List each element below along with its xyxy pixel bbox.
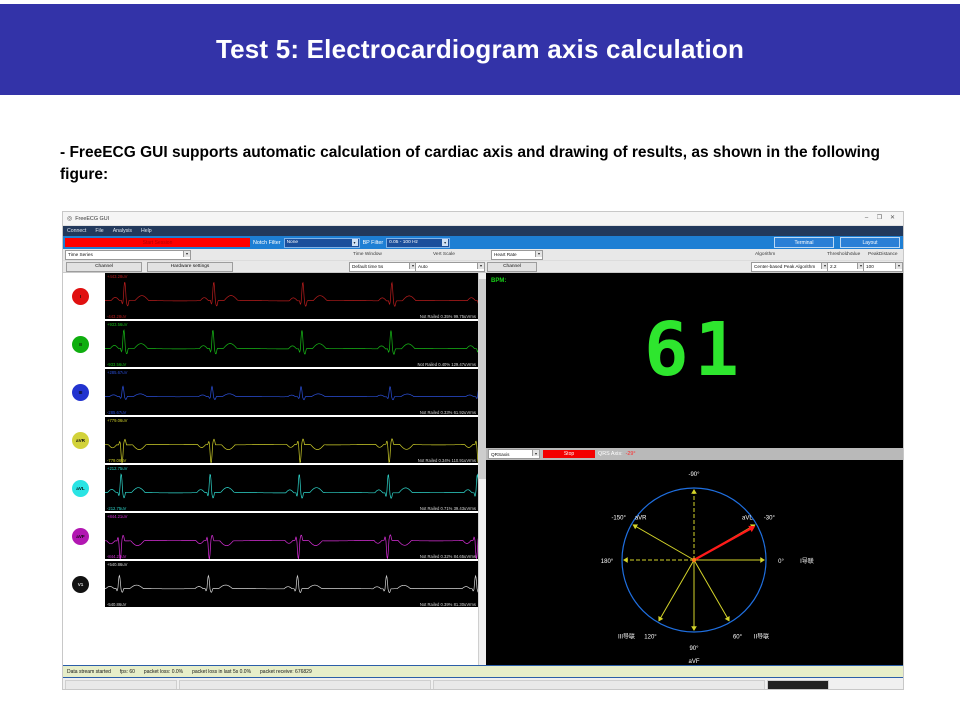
trace-amplitude-bottom: -212.75uV xyxy=(107,506,126,511)
lead-indicator-rail: IIIIIIaVRaVLaVFV1 xyxy=(63,273,105,665)
freeecg-app-window: ◎ FreeECG GUI – ❐ ✕ Connect File Analysi… xyxy=(62,211,904,690)
bottom-section-1 xyxy=(65,680,177,691)
vert-scale-label: Vert Scale xyxy=(433,252,455,257)
bottom-section-2 xyxy=(179,680,431,691)
chevron-down-icon[interactable]: ▾ xyxy=(352,239,358,246)
lead-indicator-i[interactable]: I xyxy=(72,288,89,305)
window-titlebar: ◎ FreeECG GUI – ❐ ✕ xyxy=(63,212,903,226)
status-bar: Data stream started fps: 60 packet loss:… xyxy=(63,665,903,678)
peak-distance-value: 100 xyxy=(866,264,874,269)
chevron-down-icon[interactable]: ▾ xyxy=(895,263,902,269)
ecg-trace-avr[interactable]: +779.06uV-779.06uVNot Railed 0.34% 110.9… xyxy=(105,417,479,463)
traces-scrollbar[interactable] xyxy=(478,273,486,665)
ecg-trace-i[interactable]: +443.28uV-443.28uVNot Railed 0.35% 99.75… xyxy=(105,273,479,319)
slide-header: Test 5: Electrocardiogram axis calculati… xyxy=(0,4,960,95)
ecg-trace-avf[interactable]: +844.21uV-844.21uVNot Railed 0.32% 84.65… xyxy=(105,513,479,559)
hexaxial-svg: -150°aVR-90°-30°aVL0°I导联60°II导联90°aVF120… xyxy=(486,460,903,665)
trace-amplitude-top: +540.86uV xyxy=(107,562,127,567)
scrollbar-thumb[interactable] xyxy=(479,279,486,479)
ecg-trace-iii[interactable]: +285.67uV-285.67uVNot Railed 0.33% 61.92… xyxy=(105,369,479,415)
hexaxial-angle-label: -90° xyxy=(688,472,700,478)
trace-rail-status: Not Railed 0.32% 84.65uVrms xyxy=(420,554,476,559)
stop-button[interactable]: Stop xyxy=(543,450,595,458)
time-window-label: Time Window xyxy=(353,252,382,257)
threshold-value: 2.2 xyxy=(830,264,837,269)
status-packet-loss: packet loss: 0.0% xyxy=(144,669,183,675)
heart-rate-display: BPM: 61 xyxy=(486,273,903,448)
lead-indicator-iii[interactable]: III xyxy=(72,384,89,401)
trace-amplitude-top: +212.75uV xyxy=(107,466,127,471)
time-window-value: Default time 5s xyxy=(352,264,383,269)
trace-rail-status: Not Railed 0.71% 39.43uVrms xyxy=(420,506,476,511)
lead-indicator-avf[interactable]: aVF xyxy=(72,528,89,545)
qrs-axis-vector xyxy=(694,528,752,560)
lead-indicator-label: V1 xyxy=(78,582,84,587)
trace-amplitude-bottom: -540.86uV xyxy=(107,602,126,607)
chevron-down-icon[interactable]: ▾ xyxy=(477,263,484,269)
status-stream: Data stream started xyxy=(67,669,111,675)
lead-indicator-label: aVF xyxy=(76,534,84,539)
trace-amplitude-top: +779.06uV xyxy=(107,418,127,423)
trace-rail-status: Not Railed 0.33% 61.92uVrms xyxy=(420,410,476,415)
hexaxial-angle-label: 120° xyxy=(644,634,657,640)
close-icon[interactable]: ✕ xyxy=(886,212,899,225)
lead-indicator-label: I xyxy=(80,294,81,299)
slide-body-text: - FreeECG GUI supports automatic calcula… xyxy=(60,142,905,187)
hexaxial-lead-label: I导联 xyxy=(800,557,814,565)
ecg-traces-pane: IIIIIIaVRaVLaVFV1 +443.28uV-443.28uVNot … xyxy=(63,273,486,665)
series-select[interactable]: Time Series ▾ xyxy=(65,250,191,260)
notch-filter-value: None xyxy=(287,240,298,245)
hexaxial-angle-label: -150° xyxy=(611,516,626,522)
hexaxial-angle-label: 180° xyxy=(601,559,614,565)
chevron-down-icon[interactable]: ▾ xyxy=(532,450,539,456)
lead-indicator-v1[interactable]: V1 xyxy=(72,576,89,593)
channel-button-2[interactable]: Channel xyxy=(487,262,537,272)
hexaxial-lead-label: aVR xyxy=(635,516,647,522)
qrs-lead-value: QRSaxis xyxy=(491,452,510,457)
bpm-value: 61 xyxy=(486,313,903,387)
bottom-strip xyxy=(63,678,903,690)
time-window-select[interactable]: Default time 5s ▾ xyxy=(349,262,417,272)
terminal-button[interactable]: Terminal xyxy=(774,237,834,248)
trace-amplitude-bottom: -443.28uV xyxy=(107,314,126,319)
trace-stack: +443.28uV-443.28uVNot Railed 0.35% 99.75… xyxy=(105,273,486,665)
qrs-axis-value: -29° xyxy=(626,451,636,457)
qrs-axis-toolbar: QRSaxis ▾ Stop QRS Axis: -29° xyxy=(486,448,903,460)
bp-filter-label: BP Filter xyxy=(363,240,384,246)
trace-amplitude-top: +933.56uV xyxy=(107,322,127,327)
lead-indicator-avl[interactable]: aVL xyxy=(72,480,89,497)
notch-filter-select[interactable]: None ▾ xyxy=(284,238,360,248)
peak-distance-input[interactable]: 100 ▾ xyxy=(863,262,903,272)
algorithm-select[interactable]: Center-based Peak Algorithm ▾ xyxy=(751,262,829,272)
hexaxial-angle-label: 60° xyxy=(733,634,743,640)
hexaxial-diagram: -150°aVR-90°-30°aVL0°I导联60°II导联90°aVF120… xyxy=(486,460,903,665)
maximize-icon[interactable]: ❐ xyxy=(873,212,886,225)
vert-scale-select[interactable]: Auto ▾ xyxy=(415,262,485,272)
vert-scale-value: Auto xyxy=(418,264,428,269)
trace-amplitude-top: +443.28uV xyxy=(107,274,127,279)
menu-item-connect[interactable]: Connect xyxy=(67,228,86,234)
primary-toolbar: Start Session Notch Filter None ▾ BP Fil… xyxy=(63,236,903,249)
lead-indicator-avr[interactable]: aVR xyxy=(72,432,89,449)
heart-rate-select[interactable]: Heart Rate ▾ xyxy=(491,250,543,260)
minimize-icon[interactable]: – xyxy=(860,212,873,225)
lead-indicator-label: III xyxy=(79,390,83,395)
trace-amplitude-bottom: -779.06uV xyxy=(107,458,126,463)
trace-rail-status: Not Railed 0.39% 81.30uVrms xyxy=(420,602,476,607)
tertiary-toolbar: Channel Hardware settings Default time 5… xyxy=(63,261,903,273)
ecg-trace-v1[interactable]: +540.86uV-540.86uVNot Railed 0.39% 81.30… xyxy=(105,561,479,607)
heart-rate-value: Heart Rate xyxy=(494,252,517,257)
app-icon: ◎ xyxy=(67,215,72,222)
trace-amplitude-top: +844.21uV xyxy=(107,514,127,519)
layout-button[interactable]: Layout xyxy=(840,237,900,248)
status-fps: fps: 60 xyxy=(120,669,135,675)
main-content-area: IIIIIIaVRaVLaVFV1 +443.28uV-443.28uVNot … xyxy=(63,273,903,665)
menu-item-file[interactable]: File xyxy=(95,228,103,234)
secondary-toolbar: Time Series ▾ Time Window Vert Scale Hea… xyxy=(63,249,903,261)
menu-item-analysis[interactable]: Analysis xyxy=(113,228,132,234)
hexaxial-lead-label: aVF xyxy=(688,659,699,665)
trace-amplitude-bottom: -844.21uV xyxy=(107,554,126,559)
trace-rail-status: Not Railed 0.40% 129.47uVrms xyxy=(417,362,476,367)
series-value: Time Series xyxy=(68,252,93,257)
algorithm-value: Center-based Peak Algorithm xyxy=(754,264,815,269)
trace-amplitude-top: +285.67uV xyxy=(107,370,127,375)
window-title: FreeECG GUI xyxy=(75,216,109,222)
start-session-button[interactable]: Start Session xyxy=(65,238,250,247)
bottom-section-4 xyxy=(767,680,829,691)
trace-rail-status: Not Railed 0.35% 99.75uVrms xyxy=(420,314,476,319)
lead-indicator-label: aVR xyxy=(76,438,85,443)
lead-indicator-label: II xyxy=(79,342,82,347)
trace-amplitude-bottom: -933.56uV xyxy=(107,362,126,367)
chevron-down-icon[interactable]: ▾ xyxy=(442,239,448,246)
bpm-label: BPM: xyxy=(491,278,506,284)
peak-distance-label: PeakDistance xyxy=(868,252,898,257)
channel-button[interactable]: Channel xyxy=(66,262,142,272)
bottom-section-3 xyxy=(433,680,765,691)
status-packet-loss-5s: packet loss in last 5s 0.0% xyxy=(192,669,251,675)
hexaxial-angle-label: -30° xyxy=(764,516,776,522)
hardware-settings-button[interactable]: Hardware settings xyxy=(147,262,233,272)
notch-filter-label: Notch Filter xyxy=(253,240,281,246)
lead-indicator-label: aVL xyxy=(76,486,84,491)
threshold-label: ThresholdValue xyxy=(827,252,860,257)
hexaxial-lead-label: III导联 xyxy=(618,632,635,640)
qrs-axis-label: QRS Axis: xyxy=(598,451,623,457)
trace-amplitude-bottom: -285.67uV xyxy=(107,410,126,415)
hexaxial-angle-label: 90° xyxy=(689,646,699,652)
analysis-pane: BPM: 61 QRSaxis ▾ Stop QRS Axis: -29° -1… xyxy=(486,273,903,665)
page-title: Test 5: Electrocardiogram axis calculati… xyxy=(216,34,744,65)
menu-bar: Connect File Analysis Help xyxy=(63,226,903,236)
algorithm-label: Algorithm xyxy=(755,252,775,257)
menu-item-help[interactable]: Help xyxy=(141,228,152,234)
ecg-trace-ii[interactable]: +933.56uV-933.56uVNot Railed 0.40% 129.4… xyxy=(105,321,479,367)
hexaxial-lead-label: aVL xyxy=(742,516,753,522)
ecg-trace-avl[interactable]: +212.75uV-212.75uVNot Railed 0.71% 39.43… xyxy=(105,465,479,511)
qrs-lead-select[interactable]: QRSaxis ▾ xyxy=(488,449,540,459)
chevron-down-icon[interactable]: ▾ xyxy=(183,251,190,257)
bp-filter-value: 0.05 - 100 Hz xyxy=(389,240,418,245)
threshold-input[interactable]: 2.2 ▾ xyxy=(827,262,865,272)
hexaxial-lead-label: II导联 xyxy=(754,632,769,640)
status-packet-receive: packet receive: 676829 xyxy=(260,669,312,675)
chevron-down-icon[interactable]: ▾ xyxy=(535,251,542,257)
trace-rail-status: Not Railed 0.34% 110.91uVrms xyxy=(418,458,476,463)
bp-filter-select[interactable]: 0.05 - 100 Hz ▾ xyxy=(386,238,450,248)
hexaxial-angle-label: 0° xyxy=(778,559,784,565)
lead-indicator-ii[interactable]: II xyxy=(72,336,89,353)
